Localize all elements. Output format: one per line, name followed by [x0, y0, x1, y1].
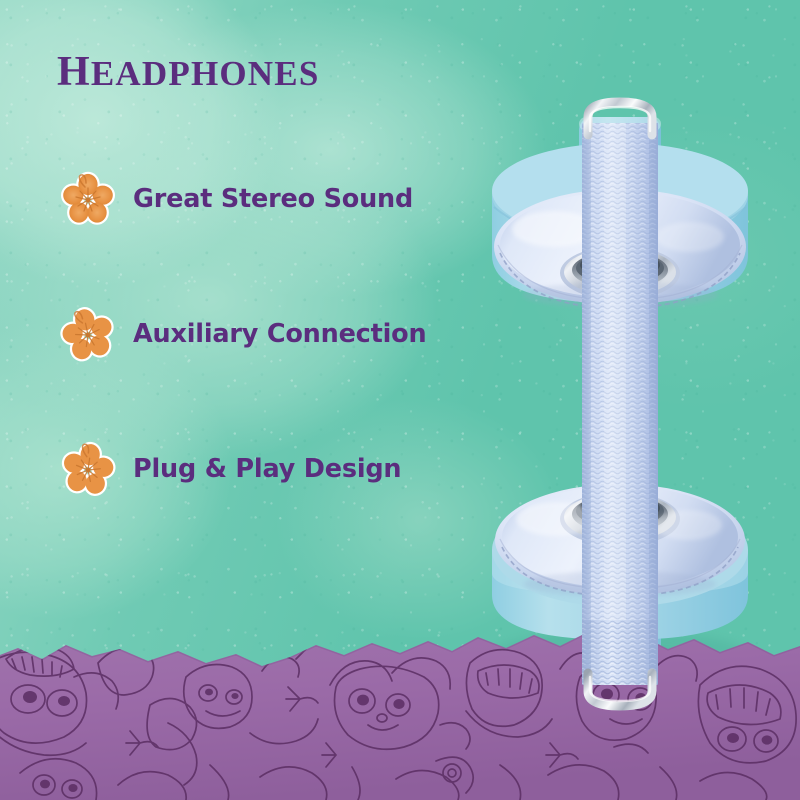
- page-title-rest: EADPHONES: [91, 54, 320, 93]
- feature-item: Great Stereo Sound: [60, 168, 480, 230]
- feature-item: Auxiliary Connection: [60, 303, 480, 365]
- purple-character-art-band: [0, 615, 800, 800]
- hibiscus-flower-icon: [60, 171, 116, 227]
- feature-list: Great Stereo Sound: [60, 168, 480, 573]
- hibiscus-flower-icon: [60, 441, 116, 497]
- hibiscus-flower-icon: [60, 306, 116, 362]
- feature-label: Auxiliary Connection: [133, 319, 426, 349]
- headband-strap: [582, 123, 658, 685]
- page-title-initial: H: [57, 49, 91, 95]
- feature-label: Plug & Play Design: [133, 454, 401, 484]
- feature-item: Plug & Play Design: [60, 438, 480, 500]
- feature-label: Great Stereo Sound: [133, 184, 413, 214]
- page-title: HEADPHONES: [57, 48, 320, 96]
- product-feature-graphic: HEADPHONES: [0, 0, 800, 800]
